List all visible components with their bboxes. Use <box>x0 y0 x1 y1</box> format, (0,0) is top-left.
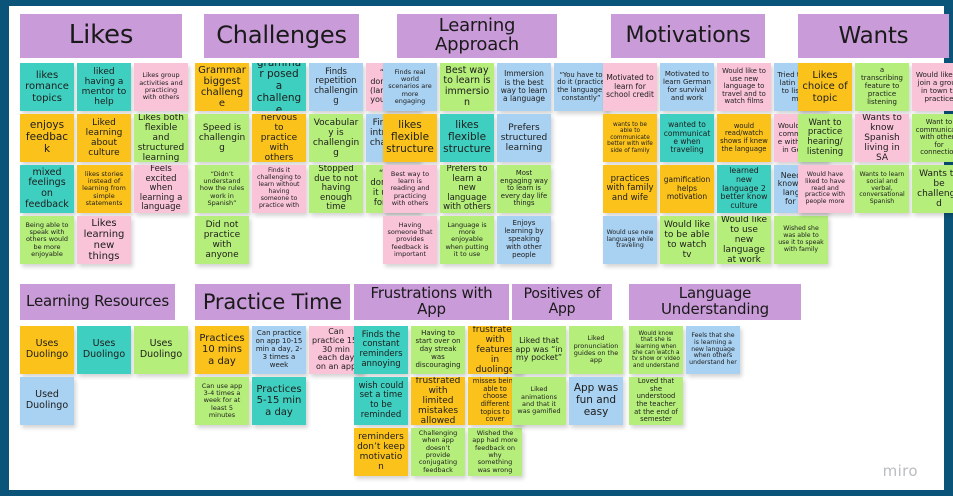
sticky-note[interactable]: Wants to know Spanish living in SA <box>855 114 909 162</box>
notes-frustrations-with-app: Finds the constant reminders annoying Ha… <box>354 326 526 486</box>
sticky-note[interactable]: grammar posed a challenge <box>252 63 306 111</box>
sticky-note[interactable]: likes flexible structure <box>383 114 437 162</box>
sticky-note[interactable]: Would know that she is learning when she… <box>629 326 683 374</box>
sticky-note[interactable]: Having to start over on day streak was d… <box>411 326 465 374</box>
miro-watermark: miro <box>883 462 918 480</box>
notes-practice-time: Practices 10 mins a day Can practice on … <box>195 326 367 436</box>
sticky-note[interactable]: Motivated to learn German for survival a… <box>660 63 714 111</box>
sticky-note[interactable]: Likes learning new things <box>77 216 131 264</box>
section-title-challenges: Challenges <box>204 14 359 58</box>
sticky-note[interactable]: Wants to be challenged <box>912 165 953 213</box>
sticky-note[interactable]: Would have liked to have read and practi… <box>798 165 852 213</box>
sticky-note[interactable]: Feels excited when learning a language <box>134 165 188 213</box>
section-wants[interactable]: Wants Likes choice of topic a transcribi… <box>798 14 953 273</box>
sticky-note[interactable]: Practices 5-15 min a day <box>252 377 306 425</box>
sticky-note[interactable]: Feels that she is learning a new languag… <box>686 326 740 374</box>
sticky-note[interactable]: Being able to speak with others would be… <box>20 216 74 264</box>
sticky-note[interactable]: gamification helps motivation <box>660 165 714 213</box>
sticky-note[interactable]: wanted to communicate when traveling <box>660 114 714 162</box>
sticky-note[interactable]: Likes both flexible and structured learn… <box>134 114 188 162</box>
sticky-note[interactable]: Finds repetition challenging <box>309 63 363 111</box>
sticky-note[interactable]: Vocabulary is challenging <box>309 114 363 162</box>
sticky-note[interactable]: Used Duolingo <box>20 377 74 425</box>
sticky-note[interactable]: Would like to use new language to travel… <box>717 63 771 111</box>
sticky-note[interactable]: Challenging when app doesn’t provide con… <box>411 428 465 476</box>
sticky-note[interactable]: Immersion is the best way to learn a lan… <box>497 63 551 111</box>
sticky-note[interactable]: liked having a mentor to help <box>77 63 131 111</box>
sticky-note[interactable]: Liked pronunciation guides on the app <box>569 326 623 374</box>
section-title-wants: Wants <box>798 14 949 58</box>
sticky-note[interactable]: Finds real world scenarios are more enga… <box>383 63 437 111</box>
sticky-note[interactable]: Can practice on app 10-15 min a day, 2-3… <box>252 326 306 374</box>
sticky-note[interactable]: Prefers to learn a new language with oth… <box>440 165 494 213</box>
sticky-note[interactable]: Most engaging way to learn is every day … <box>497 165 551 213</box>
sticky-note[interactable]: Finds the constant reminders annoying <box>354 326 408 374</box>
section-learning-approach[interactable]: Learning Approach Finds real world scena… <box>383 14 613 273</box>
sticky-note[interactable]: nervous to practice with others <box>252 114 306 162</box>
sticky-note[interactable]: Language is more enjoyable when putting … <box>440 216 494 264</box>
sticky-note[interactable]: “Didn’t understand how the rules work in… <box>195 165 249 213</box>
sticky-note[interactable]: Uses Duolingo <box>77 326 131 374</box>
sticky-note[interactable]: wish could set a time to be reminded <box>354 377 408 425</box>
sticky-note[interactable]: learned new language 2 better know cultu… <box>717 165 771 213</box>
sticky-note[interactable]: App was fun and easy <box>569 377 623 425</box>
section-title-positives-of-app: Positives of App <box>512 284 612 320</box>
section-title-practice-time: Practice Time <box>195 284 350 320</box>
sticky-note[interactable]: Would like to be able to watch tv <box>660 216 714 264</box>
sticky-note[interactable]: Uses Duolingo <box>20 326 74 374</box>
notes-language-understanding: Would know that she is learning when she… <box>629 326 804 436</box>
sticky-note[interactable]: Likes group activities and practicing wi… <box>134 63 188 111</box>
sticky-note[interactable]: Wants to learn social and verbal, conver… <box>855 165 909 213</box>
sticky-note[interactable]: Having someone that provides feedback is… <box>383 216 437 264</box>
section-practice-time[interactable]: Practice Time Practices 10 mins a day Ca… <box>195 284 367 436</box>
section-title-likes: Likes <box>20 14 182 58</box>
sticky-note[interactable]: mixed feelings on feedback <box>20 165 74 213</box>
section-title-motivations: Motivations <box>611 14 765 58</box>
sticky-note[interactable]: Finds it challenging to learn without ha… <box>252 165 306 213</box>
sticky-note[interactable]: Would like to join a group in town to pr… <box>912 63 953 111</box>
section-language-understanding[interactable]: Language Understanding Would know that s… <box>629 284 804 436</box>
sticky-note[interactable]: would read/watch shows if knew the langu… <box>717 114 771 162</box>
sticky-note[interactable]: Best way to learn is immersion <box>440 63 494 111</box>
notes-learning-resources: Uses Duolingo Uses Duolingo Uses Duoling… <box>20 326 192 436</box>
sticky-note[interactable]: Would use new language while traveling <box>603 216 657 264</box>
sticky-note[interactable]: Motivated to learn for school credit <box>603 63 657 111</box>
section-title-learning-approach: Learning Approach <box>397 14 557 58</box>
sticky-note[interactable]: likes flexible structure <box>440 114 494 162</box>
sticky-note[interactable]: Would like to use new language at work <box>717 216 771 264</box>
section-frustrations-with-app[interactable]: Frustrations with App Finds the constant… <box>354 284 526 486</box>
notes-likes: likes romance topics liked having a ment… <box>20 63 190 273</box>
sticky-note[interactable]: Want to practice hearing/ listening <box>798 114 852 162</box>
sticky-note[interactable]: Liked that app was “in my pocket” <box>512 326 566 374</box>
sticky-note[interactable]: Want to communicate with others for conn… <box>912 114 953 162</box>
sticky-note[interactable]: Best way to learn is reading and practic… <box>383 165 437 213</box>
sticky-note[interactable]: Practices 10 mins a day <box>195 326 249 374</box>
notes-learning-approach: Finds real world scenarios are more enga… <box>383 63 613 273</box>
notes-wants: Likes choice of topic a transcribing fea… <box>798 63 953 273</box>
sticky-note[interactable]: Prefers structured learning <box>497 114 551 162</box>
sticky-note[interactable]: reminders don’t keep motivation <box>354 428 408 476</box>
sticky-note[interactable]: practices with family and wife <box>603 165 657 213</box>
section-likes[interactable]: Likes likes romance topics liked having … <box>20 14 190 273</box>
sticky-note[interactable]: Loved that she understood the teacher at… <box>629 377 683 425</box>
section-title-frustrations-with-app: Frustrations with App <box>354 284 509 320</box>
section-title-learning-resources: Learning Resources <box>20 284 175 320</box>
sticky-note[interactable]: Grammar biggest challenge <box>195 63 249 111</box>
sticky-note[interactable]: Can use app 3-4 times a week for at leas… <box>195 377 249 425</box>
sticky-note[interactable]: Liked learning about culture <box>77 114 131 162</box>
sticky-note[interactable]: enjoys feedback <box>20 114 74 162</box>
sticky-note[interactable]: Liked animations and that it was gamifie… <box>512 377 566 425</box>
sticky-note[interactable]: Speed is challenging <box>195 114 249 162</box>
sticky-note[interactable]: Likes choice of topic <box>798 63 852 111</box>
sticky-note[interactable]: likes stories instead of learning from s… <box>77 165 131 213</box>
sticky-note[interactable]: Did not practice with anyone <box>195 216 249 264</box>
sticky-note[interactable]: “You have to do it (practice the languag… <box>554 63 608 111</box>
sticky-note[interactable]: frustrated with limited mistakes allowed <box>411 377 465 425</box>
section-title-language-understanding: Language Understanding <box>629 284 801 320</box>
sticky-note[interactable]: Uses Duolingo <box>134 326 188 374</box>
notes-positives-of-app: Liked that app was “in my pocket” Liked … <box>512 326 627 436</box>
sticky-note[interactable]: likes romance topics <box>20 63 74 111</box>
miro-board-canvas[interactable]: Likes likes romance topics liked having … <box>9 6 944 490</box>
section-positives-of-app[interactable]: Positives of App Liked that app was “in … <box>512 284 627 436</box>
sticky-note[interactable]: Enjoys learning by speaking with other p… <box>497 216 551 264</box>
sticky-note[interactable]: Stopped due to not having enough time <box>309 165 363 213</box>
section-learning-resources[interactable]: Learning Resources Uses Duolingo Uses Du… <box>20 284 192 436</box>
sticky-note[interactable]: a transcribing feature to practice liste… <box>855 63 909 111</box>
sticky-note[interactable]: wants to be able to communicate better w… <box>603 114 657 162</box>
